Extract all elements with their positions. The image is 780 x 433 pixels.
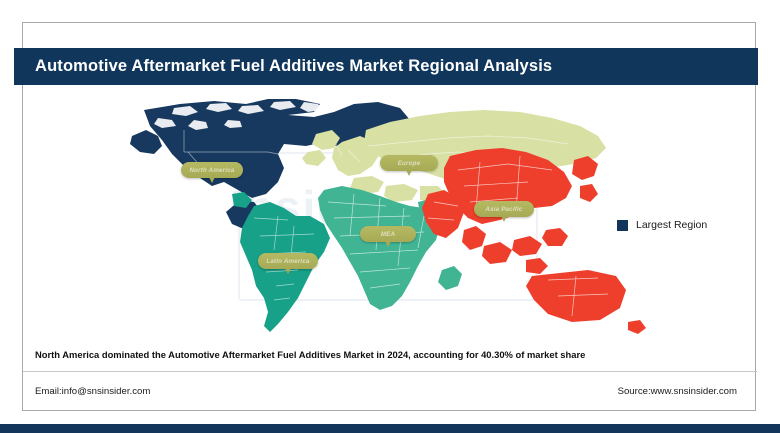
footer-email[interactable]: Email:info@snsinsider.com	[35, 386, 150, 397]
infographic-root: Automotive Aftermarket Fuel Additives Ma…	[0, 0, 780, 433]
page-title: Automotive Aftermarket Fuel Additives Ma…	[35, 57, 552, 76]
region-label-text: MEA	[381, 231, 395, 238]
region-label-asia-pacific[interactable]: Asia Pacific	[474, 201, 534, 217]
caption: North America dominated the Automotive A…	[35, 349, 585, 360]
bottom-strip	[0, 424, 780, 433]
legend-label: Largest Region	[636, 219, 707, 231]
region-label-europe[interactable]: Europe	[380, 155, 438, 171]
region-asia-pacific[interactable]	[422, 148, 646, 334]
world-map-svg	[128, 90, 648, 335]
footer: Email:info@snsinsider.com Source:www.sns…	[23, 372, 757, 411]
region-label-north-america[interactable]: North America	[181, 162, 243, 178]
legend-swatch-icon	[617, 220, 628, 231]
title-band: Automotive Aftermarket Fuel Additives Ma…	[14, 48, 758, 85]
region-label-text: North America	[189, 167, 234, 174]
footer-source[interactable]: Source:www.snsinsider.com	[618, 386, 737, 397]
world-map	[24, 90, 754, 335]
region-label-text: Europe	[398, 160, 421, 167]
region-label-mea[interactable]: MEA	[360, 226, 416, 242]
region-label-latin-america[interactable]: Latin America	[258, 253, 318, 269]
region-label-text: Latin America	[266, 258, 309, 265]
region-label-text: Asia Pacific	[485, 206, 522, 213]
legend: Largest Region	[617, 219, 707, 231]
